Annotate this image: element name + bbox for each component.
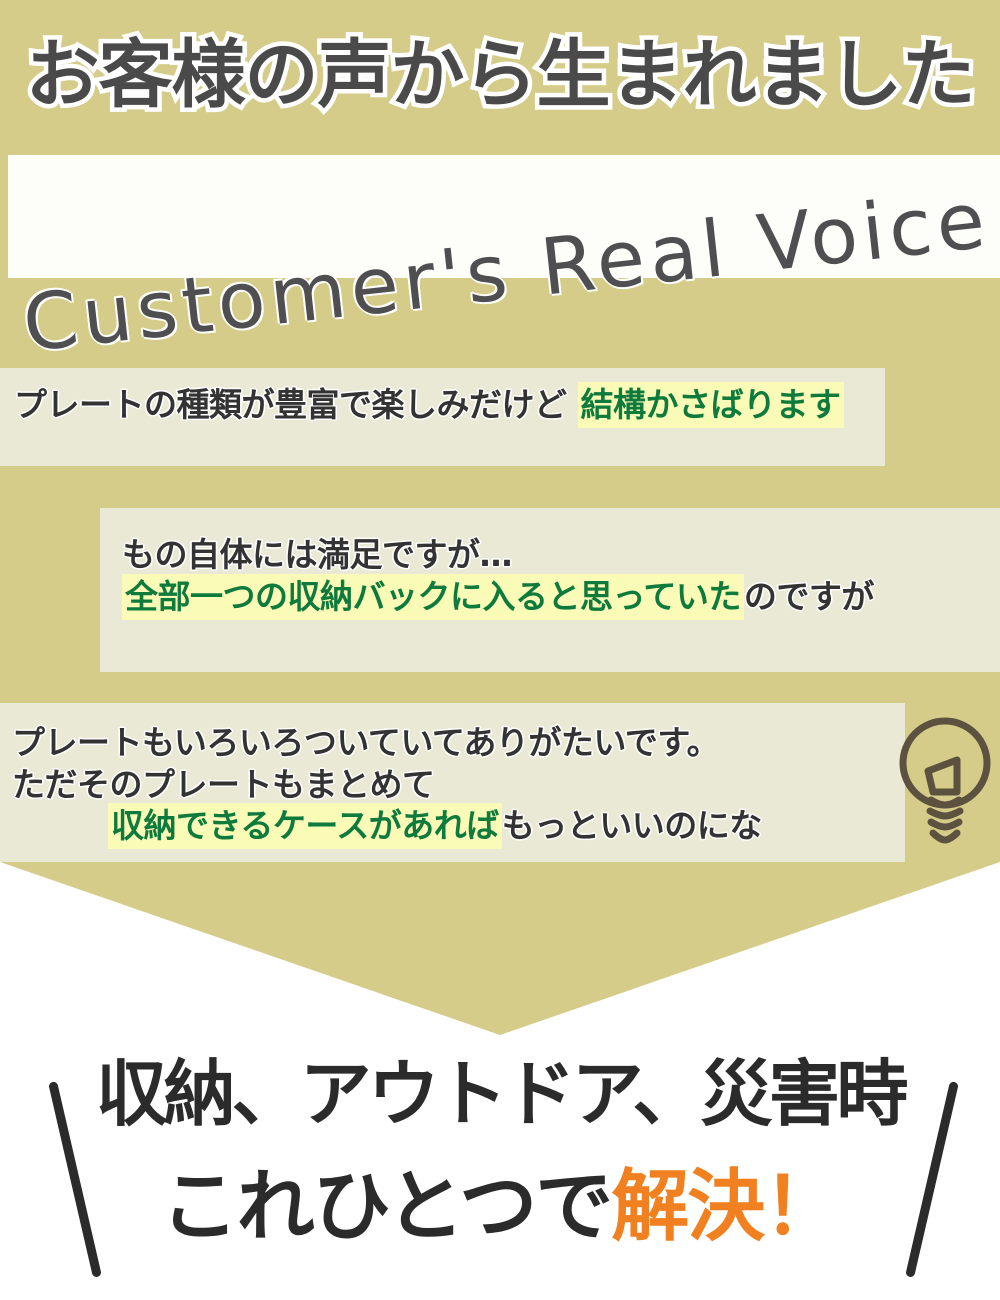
cta-line2-plain: これひとつで [161, 1162, 612, 1252]
highlighted-phrase: 収納できるケースがあれば [108, 803, 502, 849]
plain-phrase: プレートもいろいろついていてありがたいです。 [12, 723, 719, 762]
testimonial-line: 収納できるケースがあればもっといいのにな [12, 805, 762, 847]
testimonial-line: プレートの種類が豊富で楽しみだけど 結構かさばります [14, 384, 844, 426]
lightbulb-icon [895, 708, 995, 858]
cta-headline-line2: これひとつで解決！ [0, 1168, 1000, 1246]
testimonial-line: プレートもいろいろついていてありがたいです。 [12, 722, 762, 764]
testimonial-text-2: もの自体には満足ですが…全部一つの収納バックに入ると思っていたのですが [122, 534, 874, 617]
testimonial-line: ただそのプレートもまとめて [12, 764, 762, 806]
highlighted-phrase: 結構かさばります [578, 382, 844, 428]
highlighted-phrase: 全部一つの収納バックに入ると思っていた [122, 574, 744, 620]
cta-line2-accent: 解決！ [611, 1162, 839, 1252]
plain-phrase: のですが [744, 577, 874, 616]
testimonial-line: もの自体には満足ですが… [122, 534, 874, 576]
plain-phrase: もの自体には満足ですが… [122, 535, 512, 574]
cta-headline-line1: 収納、アウトドア、災害時 [0, 1058, 1000, 1130]
script-title-band [8, 155, 1000, 278]
plain-phrase: プレートの種類が豊富で楽しみだけど [14, 385, 578, 424]
testimonial-text-3: プレートもいろいろついていてありがたいです。ただそのプレートもまとめて収納できる… [12, 722, 762, 847]
testimonial-text-1: プレートの種類が豊富で楽しみだけど 結構かさばります [14, 384, 844, 426]
testimonial-line: 全部一つの収納バックに入ると思っていたのですが [122, 576, 874, 618]
plain-phrase: ただそのプレートもまとめて [12, 765, 435, 804]
plain-phrase: もっといいのにな [502, 806, 762, 845]
page-headline: お客様の声から生まれました [0, 38, 1000, 112]
